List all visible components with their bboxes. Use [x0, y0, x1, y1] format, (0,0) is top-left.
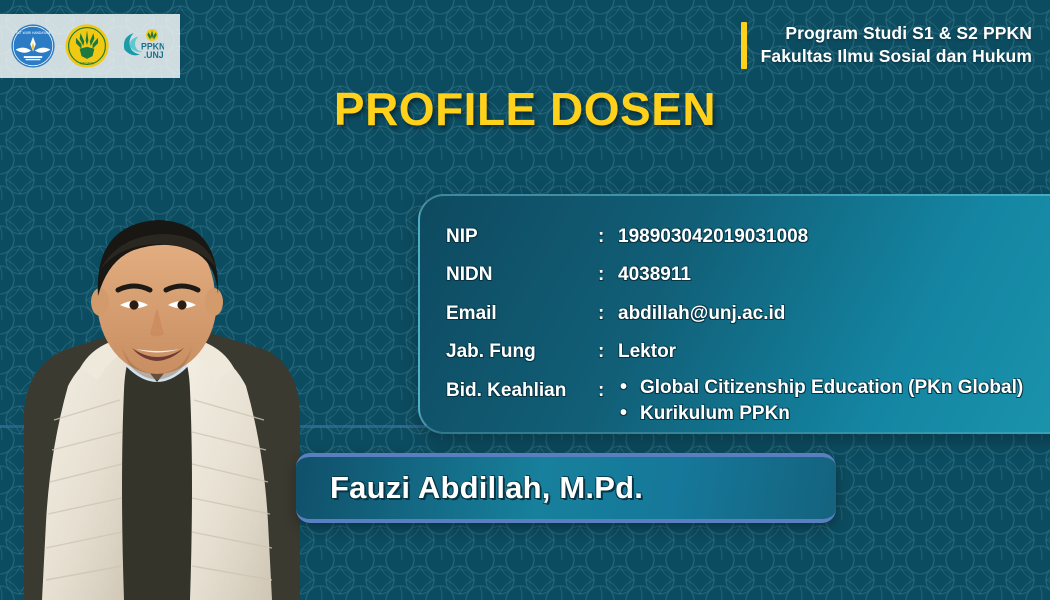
info-value-email: abdillah@unj.ac.id: [618, 299, 785, 329]
header-institution-block: Program Studi S1 & S2 PPKN Fakultas Ilmu…: [741, 22, 1032, 69]
info-label-jabatan-fungsional: Jab. Fung: [446, 337, 598, 367]
logo-bar: TUT WURI HANDAYANI NEGERI: [0, 14, 180, 78]
header-accent-bar: [741, 22, 747, 69]
info-colon: :: [598, 376, 618, 406]
header-faculty-line: Fakultas Ilmu Sosial dan Hukum: [761, 45, 1032, 68]
lecturer-name: Fauzi Abdillah, M.Pd.: [330, 470, 643, 506]
tut-wuri-handayani-logo: TUT WURI HANDAYANI: [10, 23, 56, 69]
info-row-email: Email : abdillah@unj.ac.id: [446, 299, 1048, 329]
header-program-line: Program Studi S1 & S2 PPKN: [761, 22, 1032, 45]
info-row-jabatan-fungsional: Jab. Fung : Lektor: [446, 337, 1048, 367]
info-colon: :: [598, 260, 618, 290]
expertise-item: Global Citizenship Education (PKn Global…: [640, 376, 1023, 400]
lecturer-photo: [0, 150, 324, 600]
info-row-bidang-keahlian: Bid. Keahlian : Global Citizenship Educa…: [446, 376, 1048, 429]
info-colon: :: [598, 222, 618, 252]
profile-info-card: NIP : 198903042019031008 NIDN : 4038911 …: [418, 194, 1050, 434]
info-value-jabatan-fungsional: Lektor: [618, 337, 676, 367]
info-row-nip: NIP : 198903042019031008: [446, 222, 1048, 252]
info-label-nip: NIP: [446, 222, 598, 252]
lecturer-name-banner: Fauzi Abdillah, M.Pd.: [296, 453, 836, 523]
info-row-nidn: NIDN : 4038911: [446, 260, 1048, 290]
ppkn-unj-logo: PPKN .UNJ: [118, 23, 164, 69]
svg-text:NEGERI: NEGERI: [80, 61, 94, 65]
info-label-bidang-keahlian: Bid. Keahlian: [446, 376, 598, 406]
page-title: PROFILE DOSEN: [0, 82, 1050, 136]
info-label-nidn: NIDN: [446, 260, 598, 290]
svg-text:TUT WURI HANDAYANI: TUT WURI HANDAYANI: [16, 31, 51, 35]
slide-canvas: TUT WURI HANDAYANI NEGERI: [0, 0, 1050, 600]
expertise-list: Global Citizenship Education (PKn Global…: [618, 376, 1023, 429]
info-colon: :: [598, 337, 618, 367]
svg-text:.UNJ: .UNJ: [144, 50, 164, 60]
info-label-email: Email: [446, 299, 598, 329]
info-colon: :: [598, 299, 618, 329]
info-value-nip: 198903042019031008: [618, 222, 808, 252]
expertise-item: Kurikulum PPKn: [640, 402, 1023, 426]
unj-logo: NEGERI: [64, 23, 110, 69]
info-value-nidn: 4038911: [618, 260, 691, 290]
